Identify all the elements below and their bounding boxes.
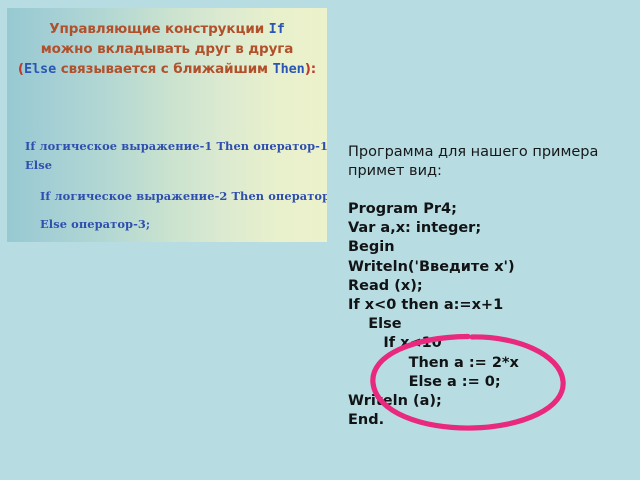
diagram-title-line-3: (Else связывается с ближайшим Then): bbox=[7, 59, 327, 79]
program-line: Program Pr4; bbox=[348, 200, 634, 219]
keyword-then: Then bbox=[273, 61, 305, 77]
program-line: Read (x); bbox=[348, 277, 634, 296]
diagram-title-line-1: Управляющие конструкции If bbox=[7, 19, 327, 39]
diagram-code-line: If логическое выражение-2 Then оператор-… bbox=[40, 189, 327, 203]
pascal-program-listing: Program Pr4; Var a,x: integer; Begin Wri… bbox=[348, 200, 634, 430]
diagram-title-text-1: Управляющие конструкции bbox=[49, 21, 268, 37]
diagram-title-text-3: связывается с ближайшим bbox=[56, 61, 272, 77]
program-line: If x<10 bbox=[348, 334, 634, 353]
diagram-code-line: Else bbox=[25, 158, 52, 172]
close-paren: ): bbox=[305, 61, 316, 77]
program-line: Then a := 2*x bbox=[348, 354, 634, 373]
diagram-code-line: Else оператор-3; bbox=[40, 217, 150, 231]
keyword-if: If bbox=[269, 21, 285, 37]
intro-line-1: Программа для нашего примера bbox=[348, 143, 634, 162]
diagram-code-line: If логическое выражение-1 Then оператор-… bbox=[25, 139, 327, 153]
diagram-title-line-2: можно вкладывать друг в друга bbox=[7, 39, 327, 59]
intro-line-2: примет вид: bbox=[348, 162, 634, 181]
program-line: Begin bbox=[348, 238, 634, 257]
keyword-else: Else bbox=[24, 61, 56, 77]
program-line: Writeln (a); bbox=[348, 392, 634, 411]
slide-canvas: Управляющие конструкции If можно вкладыв… bbox=[0, 0, 640, 480]
program-line: Writeln('Введите x') bbox=[348, 258, 634, 277]
program-line: End. bbox=[348, 411, 634, 430]
program-text-panel: Программа для нашего примера примет вид:… bbox=[348, 143, 634, 430]
program-line: Else a := 0; bbox=[348, 373, 634, 392]
program-line: If x<0 then a:=x+1 bbox=[348, 296, 634, 315]
program-line: Else bbox=[348, 315, 634, 334]
program-line: Var a,x: integer; bbox=[348, 219, 634, 238]
nested-if-diagram-image: Управляющие конструкции If можно вкладыв… bbox=[7, 8, 327, 242]
